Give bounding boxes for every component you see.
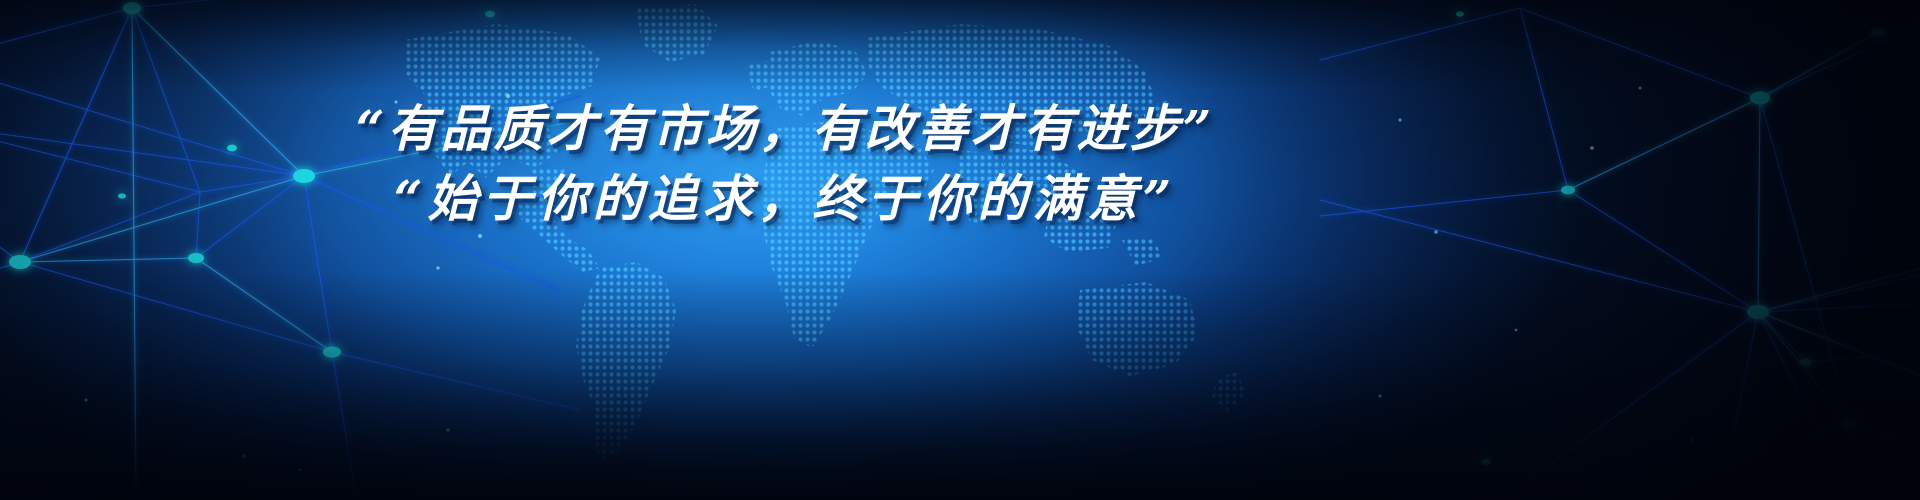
network-constellation-right — [1340, 0, 1920, 500]
network-constellation-left — [0, 0, 580, 500]
culture-banner: “有品质才有市场，有改善才有进步” “始于你的追求，终于你的满意” — [0, 0, 1920, 500]
